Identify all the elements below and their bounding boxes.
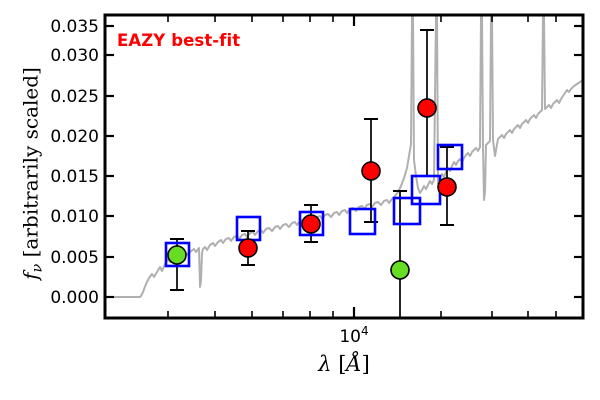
x-axis-tick-labels: 104: [339, 324, 368, 347]
y-tick-label: 0.005: [50, 248, 99, 268]
sed-figure: 0.000 0.005 0.010 0.015 0.020 0.025 0.03…: [0, 0, 600, 400]
y-tick-label: 0.030: [50, 46, 99, 66]
x-axis-label: λ [Å]: [105, 352, 583, 376]
y-tick-label: 0.020: [50, 127, 99, 147]
y-tick-label: 0.025: [50, 87, 99, 107]
x-axis-ticks: [168, 15, 556, 318]
y-axis-tick-labels: 0.000 0.005 0.010 0.015 0.020 0.025 0.03…: [50, 17, 99, 308]
y-tick-label: 0.000: [50, 288, 99, 308]
y-tick-label: 0.035: [50, 17, 99, 37]
plot-canvas: 0.000 0.005 0.010 0.015 0.020 0.025 0.03…: [0, 0, 600, 400]
y-tick-label: 0.015: [50, 167, 99, 187]
y-tick-label: 0.010: [50, 207, 99, 227]
eazy-best-fit-annotation: EAZY best-fit: [117, 31, 240, 50]
x-tick-label-1e4: 104: [339, 324, 368, 347]
y-axis-label: fν [arbitrarily scaled]: [18, 24, 45, 324]
